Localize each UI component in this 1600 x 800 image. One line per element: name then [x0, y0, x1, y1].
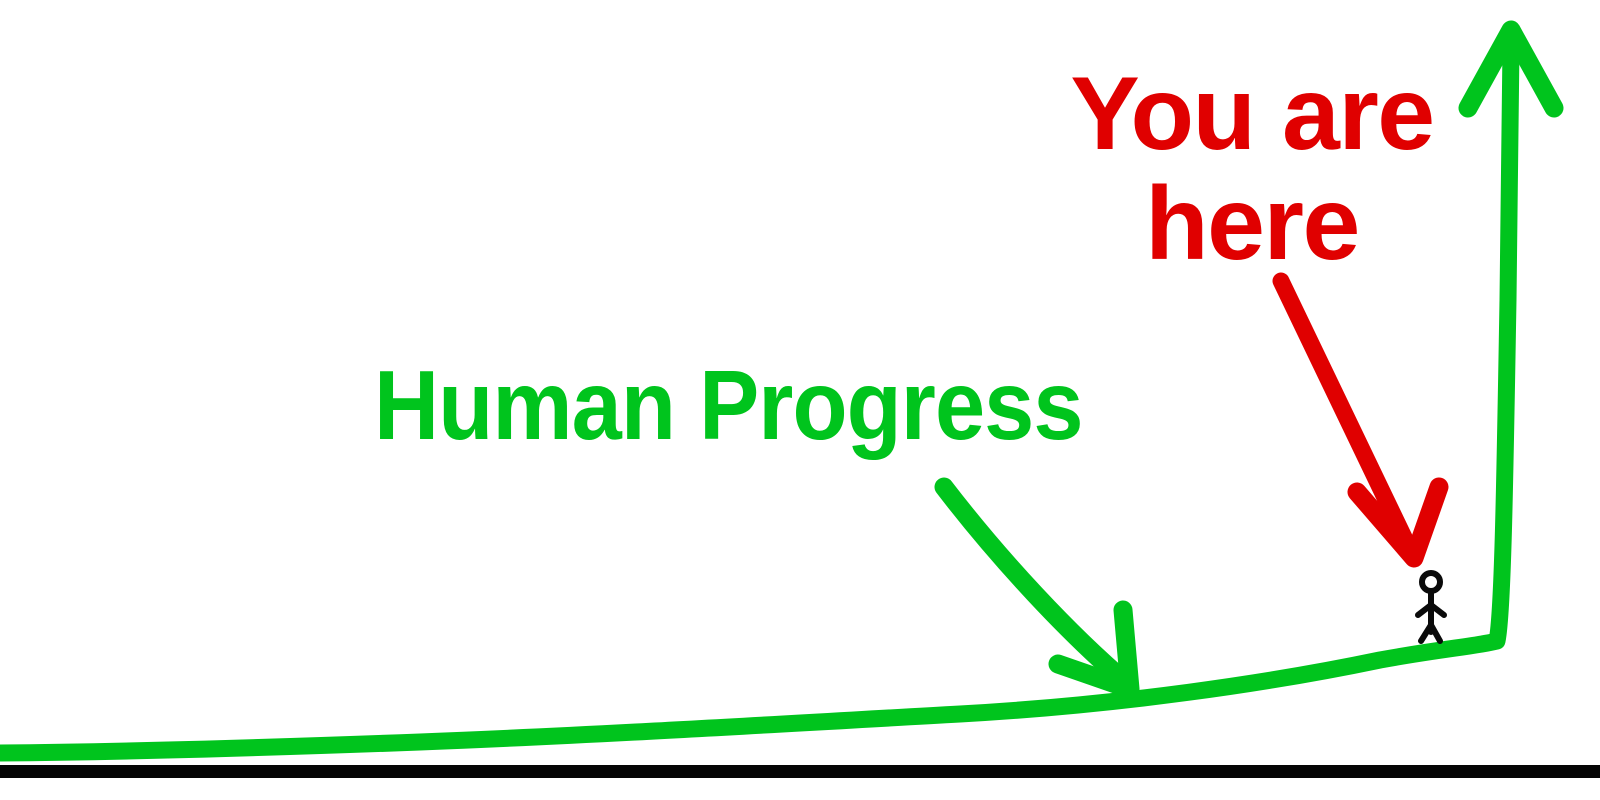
curve-label: Human Progress: [374, 356, 1083, 454]
straight-down-right-arrow-icon: [1281, 281, 1439, 558]
stick-figure-icon: [1418, 573, 1444, 641]
position-label: You are here: [1068, 62, 1436, 276]
position-label-line2: here: [1068, 172, 1436, 276]
curved-down-right-arrow-icon: [944, 487, 1130, 689]
figure-canvas: Human Progress You are here: [0, 0, 1600, 800]
horizontal-baseline-axis-icon: [0, 765, 1600, 778]
position-label-line1: You are: [1070, 56, 1433, 172]
